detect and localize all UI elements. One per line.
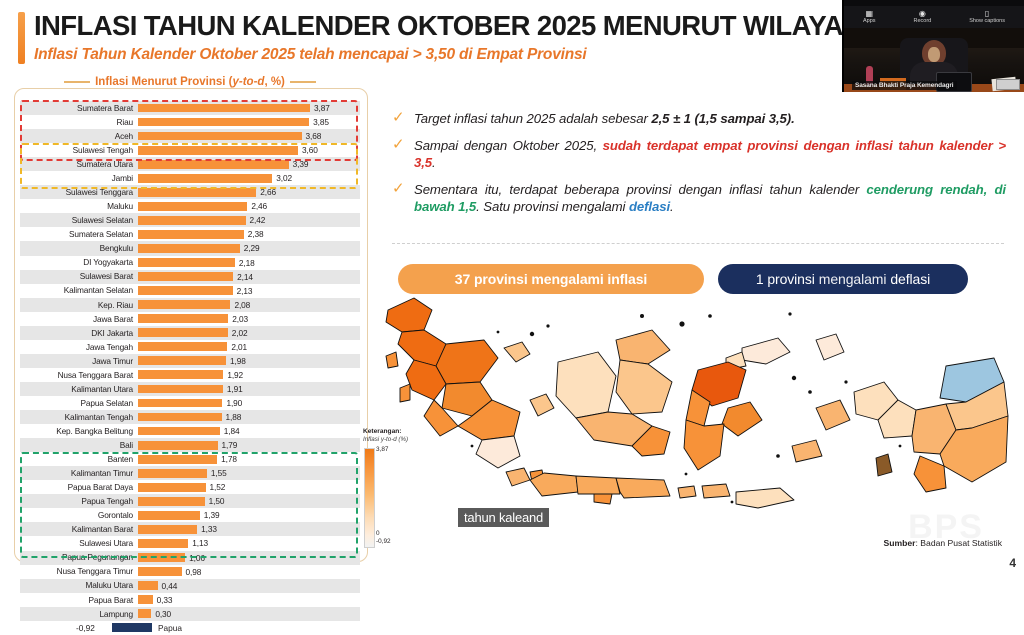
chart-title: Inflasi Menurut Provinsi (y-to-d, %) <box>14 76 366 88</box>
bar-label: Sumatera Barat <box>20 104 138 112</box>
bar-value: 3,39 <box>293 159 309 170</box>
map-islet-1 <box>530 332 534 336</box>
bar-label: Papua Pegunungan <box>20 553 138 561</box>
page-title-main: INFLASI TAHUN KALENDER OKTOBER 2025 MENU… <box>34 10 878 41</box>
bar-row: Bali1,79 <box>20 438 360 452</box>
bar-row: Kalimantan Selatan2,13 <box>20 284 360 298</box>
bar-fill <box>138 370 223 379</box>
bar-fill <box>138 356 226 365</box>
bar-fill <box>138 385 223 394</box>
bar-fill <box>138 258 235 267</box>
bar-track: 1,88 <box>138 410 360 424</box>
bar-value: 2,42 <box>250 215 266 226</box>
bar-track: 0,98 <box>138 565 360 579</box>
bar-track: 2,08 <box>138 298 360 312</box>
bullet-text-bold: 2,5 ± 1 (1,5 sampai 3,5). <box>651 111 794 126</box>
bar-row: Gorontalo1,39 <box>20 508 360 522</box>
apps-icon: ▦ <box>865 10 873 18</box>
map-islet-7 <box>792 376 796 380</box>
bar-value: 1,90 <box>226 398 242 409</box>
bar-value: 1,78 <box>221 454 237 465</box>
chart-title-prefix: Inflasi Menurut Provinsi ( <box>95 76 232 88</box>
bar-fill <box>138 609 151 618</box>
bar-row: Sulawesi Barat2,14 <box>20 270 360 284</box>
source-value: : Badan Pusat Statistik <box>916 538 1002 548</box>
pill-deflasi: 1 provinsi mengalami deflasi <box>718 264 968 294</box>
bullet-item: ✓Sampai dengan Oktober 2025, sudah terda… <box>392 137 1006 172</box>
bar-label: Sumatera Utara <box>20 160 138 168</box>
bar-row: Kep. Bangka Belitung1,84 <box>20 424 360 438</box>
bar-value: 1,92 <box>227 370 243 381</box>
bar-value: 1,39 <box>204 510 220 521</box>
bar-row: Papua Selatan1,90 <box>20 396 360 410</box>
bar-chart-rows: Sumatera Barat3,87Riau3,85Aceh3,68Sulawe… <box>20 101 360 635</box>
video-person-face <box>928 47 940 62</box>
caption-chip: tahun kaleand <box>458 508 549 527</box>
map-islet-10 <box>844 380 847 383</box>
bullet-item: ✓Sementara itu, terdapat beberapa provin… <box>392 181 1006 216</box>
bar-fill <box>138 342 227 351</box>
bar-track: 1,84 <box>138 424 360 438</box>
bar-row: Jawa Timur1,98 <box>20 354 360 368</box>
map-region-riau <box>436 340 498 384</box>
bar-fill <box>138 216 246 225</box>
bar-value: 2,13 <box>237 286 253 297</box>
bar-row: Jawa Barat2,03 <box>20 312 360 326</box>
map-region-ntb <box>702 484 730 498</box>
apps-button[interactable]: ▦ Apps <box>863 10 876 25</box>
bar-value: 1,13 <box>192 538 208 549</box>
bar-fill <box>138 455 217 464</box>
bar-label: Kalimantan Tengah <box>20 413 138 421</box>
map-region-ntt <box>736 488 794 508</box>
bar-track: 2,38 <box>138 227 360 241</box>
map-region-jateng <box>576 476 620 494</box>
bar-label: Sulawesi Selatan <box>20 216 138 224</box>
bar-track: 2,13 <box>138 284 360 298</box>
bar-track: 1,98 <box>138 354 360 368</box>
map-islet-12 <box>471 445 474 448</box>
bullet-list: ✓Target inflasi tahun 2025 adalah sebesa… <box>392 110 1006 225</box>
bar-fill <box>138 244 240 253</box>
bar-track: 2,18 <box>138 256 360 270</box>
bar-value: 1,91 <box>227 384 243 395</box>
map-region-sulut <box>742 338 790 364</box>
bar-row: Maluku2,46 <box>20 199 360 213</box>
bar-track: 2,14 <box>138 270 360 284</box>
bar-track: 1,50 <box>138 494 360 508</box>
bar-row: Sulawesi Selatan2,42 <box>20 213 360 227</box>
legend-zero-value: 0 <box>376 530 380 537</box>
bar-track: 3,85 <box>138 115 360 129</box>
pill-inflasi-label: 37 provinsi mengalami inflasi <box>455 271 647 287</box>
check-icon: ✓ <box>392 111 406 125</box>
bar-track: 1,92 <box>138 368 360 382</box>
bar-row: Sulawesi Tengah3,60 <box>20 143 360 157</box>
bar-row: Jambi3,02 <box>20 171 360 185</box>
bar-row: Kalimantan Timur1,55 <box>20 466 360 480</box>
bar-fill <box>138 286 233 295</box>
bar-value: 2,01 <box>231 342 247 353</box>
bar-label: Nusa Tenggara Timur <box>20 567 138 575</box>
bar-label: Jawa Timur <box>20 357 138 365</box>
bar-value: 1,55 <box>211 468 227 479</box>
bar-track: 2,03 <box>138 312 360 326</box>
bar-fill <box>138 553 185 562</box>
bar-label: Kalimantan Utara <box>20 385 138 393</box>
bar-track: 2,46 <box>138 199 360 213</box>
bar-track: 3,02 <box>138 171 360 185</box>
map-region-aceh <box>386 298 432 332</box>
title-rule-left <box>64 81 90 82</box>
bar-row: Sumatera Selatan2,38 <box>20 227 360 241</box>
chart-title-ital: y-to-d <box>233 76 265 88</box>
bar-label: Sulawesi Tengah <box>20 146 138 154</box>
bar-label: Riau <box>20 118 138 126</box>
bar-fill <box>138 230 244 239</box>
map-region-jatim <box>616 478 670 498</box>
bar-label: Nusa Tenggara Barat <box>20 371 138 379</box>
bar-label: DKI Jakarta <box>20 329 138 337</box>
map-region-jabar <box>530 473 578 496</box>
bar-row: Sumatera Utara3,39 <box>20 157 360 171</box>
map-region-small-island <box>876 454 892 476</box>
bar-fill <box>138 567 182 576</box>
bar-track: 1,52 <box>138 480 360 494</box>
bar-row: Kep. Riau2,08 <box>20 298 360 312</box>
bar-row: Nusa Tenggara Barat1,92 <box>20 368 360 382</box>
bar-track: 1,33 <box>138 522 360 536</box>
check-icon: ✓ <box>392 182 406 196</box>
map-region-kaltim <box>616 360 672 414</box>
bar-label: Kalimantan Barat <box>20 525 138 533</box>
apps-label: Apps <box>863 19 876 25</box>
map-region-maluku2 <box>792 440 822 462</box>
map-legend: Keterangan: Inflasi y-to-d (%) 3,87 0 -0… <box>363 428 423 554</box>
bar-value: 2,46 <box>251 201 267 212</box>
bar-value: 0,98 <box>186 567 202 578</box>
bar-fill <box>138 497 205 506</box>
bar-row: Jawa Tengah2,01 <box>20 340 360 354</box>
bar-label: Jawa Barat <box>20 315 138 323</box>
captions-button[interactable]: ▯ Show captions <box>969 10 1005 25</box>
bar-row: Bengkulu2,29 <box>20 241 360 255</box>
bar-fill <box>138 174 272 183</box>
bar-row: Papua Tengah1,50 <box>20 494 360 508</box>
bar-label: Maluku Utara <box>20 581 138 589</box>
bar-value: 0,33 <box>157 595 173 606</box>
bar-row: Riau3,85 <box>20 115 360 129</box>
map-islet-11 <box>497 331 500 334</box>
bar-value: 2,08 <box>234 300 250 311</box>
bar-label: Jawa Tengah <box>20 343 138 351</box>
bullet-text-plain: . <box>432 155 436 170</box>
bar-value: 2,03 <box>232 314 248 325</box>
legend-title: Keterangan: <box>363 428 423 436</box>
bullet-text-plain: Sampai dengan Oktober 2025, <box>414 138 603 153</box>
map-region-mentawai <box>400 384 410 402</box>
bar-fill <box>138 427 220 436</box>
bar-value: 2,14 <box>237 272 253 283</box>
section-divider <box>392 243 1004 244</box>
bar-label: Banten <box>20 455 138 463</box>
bar-track: 1,90 <box>138 396 360 410</box>
bar-track: 0,30 <box>138 607 360 621</box>
bar-track: 3,39 <box>138 157 360 171</box>
record-label: Record <box>914 19 932 25</box>
legend-color-ramp <box>364 448 375 548</box>
bar-value: 1,33 <box>201 524 217 535</box>
record-icon: ◉ <box>919 10 926 18</box>
bar-fill <box>138 441 218 450</box>
page-number: 4 <box>1009 556 1016 570</box>
bar-row: Maluku Utara0,44 <box>20 579 360 593</box>
video-pin-icon[interactable] <box>996 79 1020 90</box>
map-islet-9 <box>776 454 780 458</box>
bullet-text-plain: Sementara itu, terdapat beberapa provins… <box>414 182 866 197</box>
bar-label: Maluku <box>20 202 138 210</box>
bar-track: 2,42 <box>138 213 360 227</box>
bar-label: Papua Barat <box>20 596 138 604</box>
map-region-malut <box>816 334 844 360</box>
map-islet-4 <box>679 321 684 326</box>
bar-label: Bali <box>20 441 138 449</box>
title-rule-right <box>290 81 316 82</box>
map-islet-15 <box>899 445 902 448</box>
bar-label: Bengkulu <box>20 244 138 252</box>
bar-label: Aceh <box>20 132 138 140</box>
bar-fill-negative <box>112 623 152 632</box>
map-region-kalbar <box>556 352 616 418</box>
bullet-item: ✓Target inflasi tahun 2025 adalah sebesa… <box>392 110 1006 128</box>
bar-fill <box>138 399 222 408</box>
map-islet-14 <box>731 501 734 504</box>
source-note: Sumber: Badan Pusat Statistik <box>884 538 1002 548</box>
bar-track: 2,01 <box>138 340 360 354</box>
bar-fill <box>138 469 207 478</box>
bar-label: Sulawesi Barat <box>20 272 138 280</box>
bar-row: Kalimantan Utara1,91 <box>20 382 360 396</box>
bar-fill <box>138 595 153 604</box>
map-islet-5 <box>708 314 712 318</box>
bar-track: 1,55 <box>138 466 360 480</box>
bar-label: Kalimantan Timur <box>20 469 138 477</box>
bar-value: 2,29 <box>244 243 260 254</box>
map-region-nias <box>386 352 398 368</box>
bar-value: 1,84 <box>224 426 240 437</box>
page-subtitle: Inflasi Tahun Kalender Oktober 2025 tela… <box>34 46 854 64</box>
bar-row: Kalimantan Tengah1,88 <box>20 410 360 424</box>
map-region-banten <box>506 468 530 486</box>
bar-label: Papua Tengah <box>20 497 138 505</box>
bar-row: Banten1,78 <box>20 452 360 466</box>
map-region-bali <box>678 486 696 498</box>
bar-label: Sulawesi Tenggara <box>20 188 138 196</box>
bar-label: DI Yogyakarta <box>20 258 138 266</box>
bar-fill <box>138 539 188 548</box>
map-region-sultra <box>722 402 762 436</box>
bar-track: 1,39 <box>138 508 360 522</box>
bullet-text-blue: deflasi <box>629 199 670 214</box>
page-title: INFLASI TAHUN KALENDER OKTOBER 2025 MENU… <box>34 10 834 42</box>
map-islet-6 <box>788 312 791 315</box>
bar-value: 2,66 <box>260 187 276 198</box>
bar-value: 1,88 <box>226 412 242 423</box>
bar-fill <box>138 525 197 534</box>
bar-label: Sulawesi Utara <box>20 539 138 547</box>
bar-row: Papua Pegunungan1,06 <box>20 551 360 565</box>
bar-track: -0,92Papua <box>138 621 360 635</box>
pill-inflasi: 37 provinsi mengalami inflasi <box>398 264 704 294</box>
bar-value: 3,02 <box>276 173 292 184</box>
bullet-text-plain: . Satu provinsi mengalami <box>476 199 629 214</box>
map-region-kaltara <box>616 330 670 364</box>
bar-track: 1,13 <box>138 536 360 550</box>
pill-deflasi-word: deflasi <box>890 271 930 287</box>
bar-track: 1,91 <box>138 382 360 396</box>
map-islet-2 <box>546 324 549 327</box>
bar-label: Papua <box>158 623 182 634</box>
bar-fill <box>138 581 158 590</box>
video-participant-name: Sasana Bhakti Praja Kemendagri <box>852 81 957 90</box>
bar-track: 1,79 <box>138 438 360 452</box>
bar-value: 3,68 <box>306 131 322 142</box>
bar-row: Sumatera Barat3,87 <box>20 101 360 115</box>
bar-value: 3,60 <box>302 145 318 156</box>
bar-label: Kep. Bangka Belitung <box>20 427 138 435</box>
bar-fill <box>138 483 206 492</box>
title-accent-bar <box>18 12 25 64</box>
bar-fill <box>138 132 302 141</box>
map-region-babel <box>530 394 554 416</box>
bar-row: Sulawesi Tenggara2,66 <box>20 185 360 199</box>
bar-fill <box>138 300 230 309</box>
summary-pills: 37 provinsi mengalami inflasi 1 provinsi… <box>398 264 998 294</box>
bar-row: Kalimantan Barat1,33 <box>20 522 360 536</box>
bar-track: 1,06 <box>138 551 360 565</box>
bar-track: 0,33 <box>138 593 360 607</box>
legend-subtitle: Inflasi y-to-d (%) <box>363 436 423 444</box>
bar-fill <box>138 146 298 155</box>
legend-min-value: -0,92 <box>376 538 391 545</box>
map-region-sulsel <box>684 420 724 470</box>
bar-fill <box>138 413 222 422</box>
bullet-text-plain: Target inflasi tahun 2025 adalah sebesar <box>414 111 651 126</box>
bar-row: Lampung0,30 <box>20 607 360 621</box>
bar-value: 1,52 <box>210 482 226 493</box>
bar-track: 3,87 <box>138 101 360 115</box>
pill-deflasi-count: 1 provinsi <box>756 271 815 287</box>
map-region-kepri <box>504 342 530 362</box>
record-button[interactable]: ◉ Record <box>914 10 932 25</box>
bar-row: Papua Barat0,33 <box>20 593 360 607</box>
bar-fill <box>138 188 256 197</box>
bar-track: 1,78 <box>138 452 360 466</box>
video-toolbar[interactable]: ▦ Apps ◉ Record ▯ Show captions <box>844 6 1024 28</box>
chart-title-suffix: , %) <box>264 76 284 88</box>
bar-fill <box>138 511 200 520</box>
bar-label: Kalimantan Selatan <box>20 286 138 294</box>
bar-value: 1,98 <box>230 356 246 367</box>
bar-label: Jambi <box>20 174 138 182</box>
bar-row: Aceh3,68 <box>20 129 360 143</box>
bar-fill <box>138 118 309 127</box>
bar-fill <box>138 272 233 281</box>
pill-deflasi-mid: mengalami <box>819 271 887 287</box>
bar-label: Lampung <box>20 610 138 618</box>
bar-track: 0,44 <box>138 579 360 593</box>
bar-row: Nusa Tenggara Timur0,98 <box>20 565 360 579</box>
source-label: Sumber <box>884 538 916 548</box>
captions-icon: ▯ <box>985 10 989 18</box>
captions-label: Show captions <box>969 19 1005 25</box>
bar-label: Papua Barat Daya <box>20 483 138 491</box>
bar-label: Gorontalo <box>20 511 138 519</box>
map-islet-13 <box>685 473 688 476</box>
bar-track: 2,02 <box>138 326 360 340</box>
bar-row: -0,92Papua <box>20 621 360 635</box>
bar-track: 2,29 <box>138 241 360 255</box>
legend-max-value: 3,87 <box>376 446 388 453</box>
bar-label: Sumatera Selatan <box>20 230 138 238</box>
bar-label: Papua Selatan <box>20 399 138 407</box>
map-region-lampung <box>476 436 520 468</box>
bar-track: 3,60 <box>138 143 360 157</box>
bar-fill <box>138 328 228 337</box>
map-islet-3 <box>640 314 644 318</box>
map-region-maluku <box>816 400 850 430</box>
bar-value: 2,38 <box>248 229 264 240</box>
bar-value: -0,92 <box>76 623 95 634</box>
bar-fill <box>138 314 228 323</box>
bar-fill <box>138 202 247 211</box>
bar-value: 2,18 <box>239 258 255 269</box>
bullet-text-plain: . <box>670 199 674 214</box>
bar-fill <box>138 160 289 169</box>
bar-row: DKI Jakarta2,02 <box>20 326 360 340</box>
bar-track: 3,68 <box>138 129 360 143</box>
map-islet-8 <box>808 390 812 394</box>
bar-row: Sulawesi Utara1,13 <box>20 536 360 550</box>
bar-value: 1,79 <box>222 440 238 451</box>
bar-value: 1,50 <box>209 496 225 507</box>
bar-value: 1,06 <box>189 553 205 564</box>
bar-row: DI Yogyakarta2,18 <box>20 256 360 270</box>
bar-value: 0,44 <box>162 581 178 592</box>
bar-label: Kep. Riau <box>20 301 138 309</box>
map-region-papuaselatan-tail <box>914 456 946 492</box>
bar-track: 2,66 <box>138 185 360 199</box>
bar-value: 2,02 <box>232 328 248 339</box>
map-region-diy <box>594 494 612 504</box>
bar-fill <box>138 104 310 113</box>
bar-value: 3,87 <box>314 103 330 114</box>
bar-row: Papua Barat Daya1,52 <box>20 480 360 494</box>
video-conference-thumbnail[interactable]: ▦ Apps ◉ Record ▯ Show captions Sasana B… <box>842 0 1024 92</box>
bar-value: 0,30 <box>155 609 171 620</box>
bar-value: 3,85 <box>313 117 329 128</box>
check-icon: ✓ <box>392 138 406 152</box>
